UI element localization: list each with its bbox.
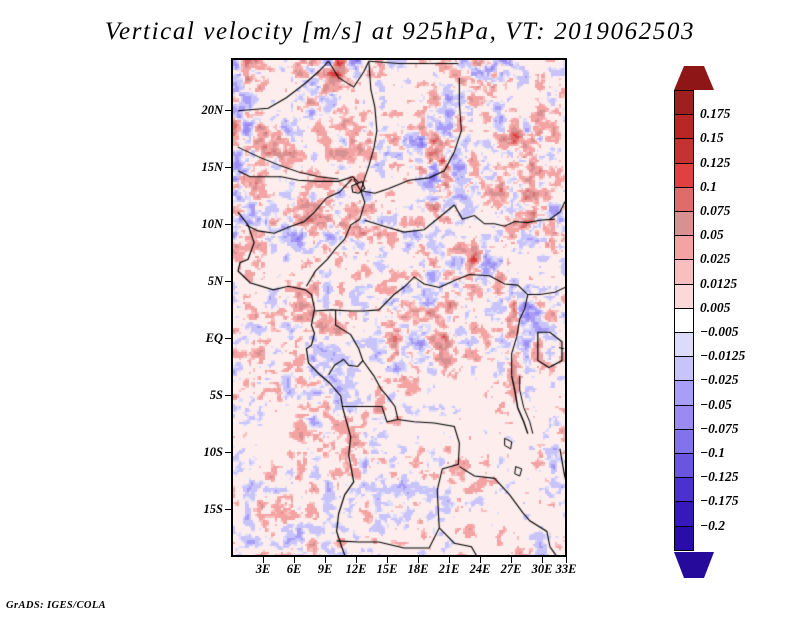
colorbar-under-arrow — [674, 552, 714, 578]
colorbar-band — [674, 138, 694, 164]
x-axis-label-wrap: 33E — [546, 562, 586, 578]
colorbar-band — [674, 90, 694, 116]
colorbar-tick-label: 0.05 — [700, 228, 724, 242]
y-axis-tick — [225, 110, 231, 111]
colorbar-tick-label: 0.075 — [700, 204, 730, 218]
colorbar-tick-label: 0.175 — [700, 107, 730, 121]
y-axis-tick — [225, 395, 231, 396]
colorbar-tick-label: 0.005 — [700, 301, 730, 315]
colorbar-tick-label: −0.2 — [700, 519, 725, 533]
y-axis-label-wrap: 5S — [178, 388, 223, 402]
y-axis-label-wrap: 5N — [178, 274, 223, 288]
y-axis-label: 15S — [183, 502, 223, 517]
colorbar-band — [674, 380, 694, 406]
y-axis-label: EQ — [183, 331, 223, 346]
y-axis-tick — [225, 452, 231, 453]
y-axis-label-wrap: 15N — [178, 160, 223, 174]
colorbar-tick-label: −0.05 — [700, 398, 732, 412]
y-axis-label: 5S — [183, 388, 223, 403]
colorbar-tick-label: 0.025 — [700, 252, 730, 266]
y-axis-tick — [225, 509, 231, 510]
y-axis-tick — [225, 224, 231, 225]
colorbar-band — [674, 235, 694, 261]
colorbar-band — [674, 477, 694, 503]
colorbar-band — [674, 356, 694, 382]
y-axis-tick — [225, 338, 231, 339]
colorbar-band — [674, 259, 694, 285]
footer-credit: GrADS: IGES/COLA — [6, 600, 106, 611]
colorbar-band — [674, 405, 694, 431]
y-axis-label-wrap: 10S — [178, 445, 223, 459]
colorbar-band — [674, 453, 694, 479]
colorbar-band — [674, 526, 694, 552]
plot-page: Vertical velocity [m/s] at 925hPa, VT: 2… — [0, 0, 800, 618]
colorbar-tick-label: −0.005 — [700, 325, 739, 339]
y-axis-label-wrap: 15S — [178, 502, 223, 516]
colorbar-tick-label: 0.0125 — [700, 277, 737, 291]
colorbar-band — [674, 308, 694, 334]
colorbar-tick-label: −0.1 — [700, 446, 725, 460]
colorbar-tick-label: 0.15 — [700, 131, 724, 145]
y-axis-label: 10S — [183, 445, 223, 460]
y-axis-label: 10N — [183, 217, 223, 232]
page-title: Vertical velocity [m/s] at 925hPa, VT: 2… — [0, 18, 800, 46]
colorbar-tick-label: −0.125 — [700, 470, 739, 484]
colorbar-band — [674, 429, 694, 455]
y-axis-label: 5N — [183, 274, 223, 289]
colorbar-tick-label: −0.075 — [700, 422, 739, 436]
y-axis-label: 20N — [183, 103, 223, 118]
y-axis-label-wrap: 20N — [178, 103, 223, 117]
colorbar-tick-label: −0.175 — [700, 494, 739, 508]
y-axis-tick — [225, 167, 231, 168]
colorbar-over-arrow — [674, 66, 714, 90]
map-plot-area — [231, 58, 567, 557]
y-axis-tick — [225, 281, 231, 282]
y-axis-label-wrap: EQ — [178, 331, 223, 345]
colorbar-band — [674, 163, 694, 189]
colorbar-band — [674, 187, 694, 213]
colorbar-tick-label: −0.025 — [700, 373, 739, 387]
colorbar-band — [674, 114, 694, 140]
y-axis-label-wrap: 10N — [178, 217, 223, 231]
colorbar-band — [674, 211, 694, 237]
colorbar-tick-label: −0.0125 — [700, 349, 745, 363]
x-axis-label: 33E — [546, 562, 586, 577]
colorbar-tick-label: 0.125 — [700, 156, 730, 170]
y-axis-label: 15N — [183, 160, 223, 175]
colorbar-band — [674, 284, 694, 310]
colorbar-tick-label: 0.1 — [700, 180, 717, 194]
vertical-velocity-field — [233, 60, 565, 555]
colorbar-band — [674, 332, 694, 358]
colorbar-band — [674, 501, 694, 527]
